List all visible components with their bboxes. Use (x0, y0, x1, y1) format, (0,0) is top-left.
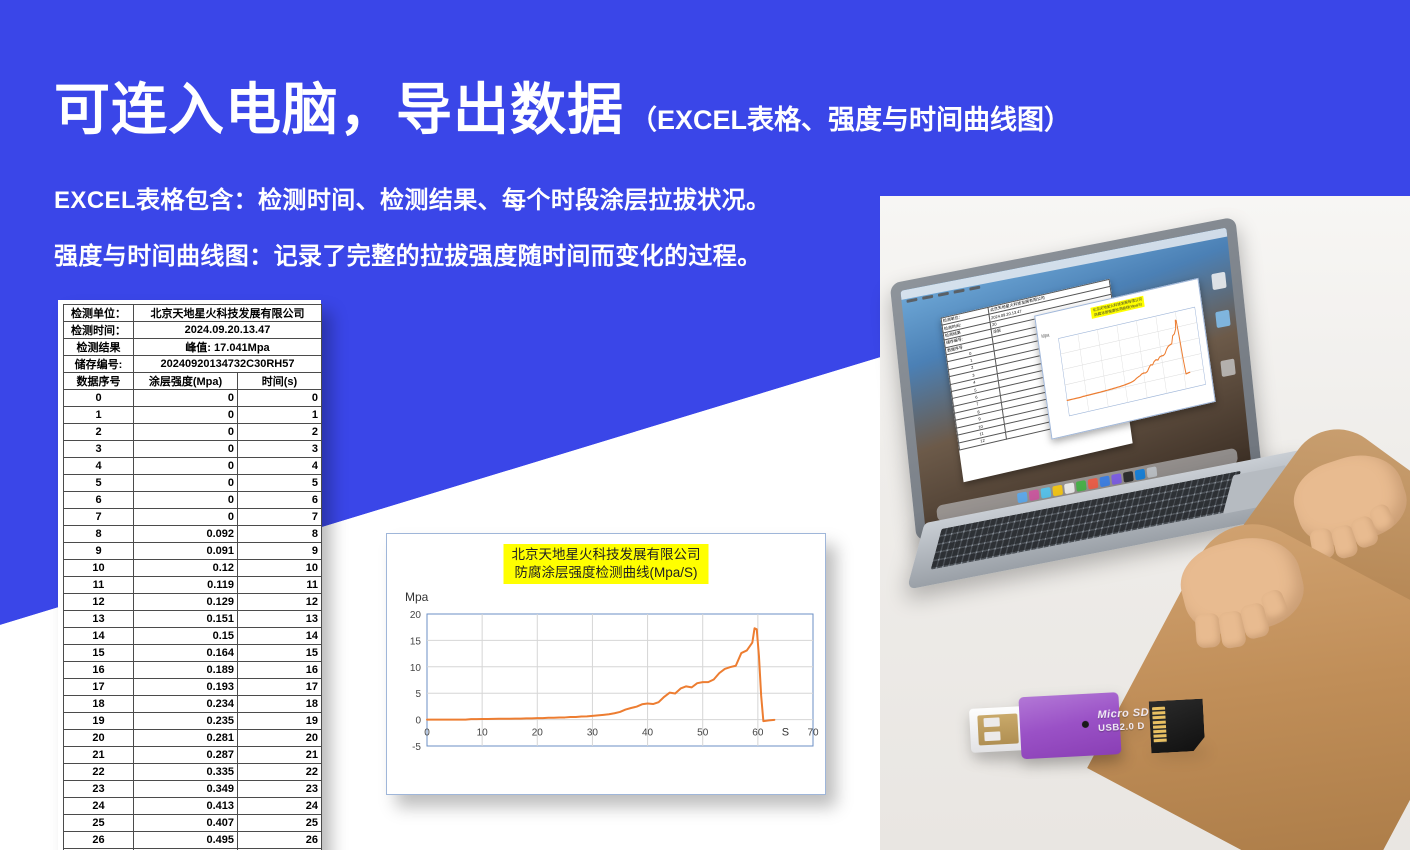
cell-index: 9 (64, 543, 134, 560)
dock-icon-pages[interactable] (1064, 482, 1075, 494)
chart-ytick-label: 20 (410, 610, 422, 621)
meta-value: 2024.09.20.13.47 (134, 322, 322, 339)
cell-time: 5 (238, 475, 322, 492)
cell-index: 1 (64, 407, 134, 424)
cell-time: 16 (238, 662, 322, 679)
cell-time: 8 (238, 526, 322, 543)
desktop-icon-file (1211, 271, 1226, 290)
table-row: 140.1514 (64, 628, 322, 645)
cell-time: 26 (238, 832, 322, 849)
cell-time: 2 (238, 424, 322, 441)
table-row: 120.12912 (64, 594, 322, 611)
table-row: 80.0928 (64, 526, 322, 543)
table-row: 180.23418 (64, 696, 322, 713)
cell-time: 7 (238, 509, 322, 526)
cell-time: 4 (238, 458, 322, 475)
chart-xtick-label: 10 (477, 728, 489, 739)
meta-value: 20240920134732C30RH57 (134, 356, 322, 373)
cell-index: 19 (64, 713, 134, 730)
chart-xtick-label: 40 (642, 728, 654, 739)
cell-strength: 0.281 (134, 730, 238, 747)
table-row: 000 (64, 390, 322, 407)
cell-strength: 0.335 (134, 764, 238, 781)
card-reader-brand-text: Micro SD (1097, 707, 1149, 722)
cell-strength: 0.092 (134, 526, 238, 543)
cell-strength: 0.119 (134, 577, 238, 594)
cell-time: 14 (238, 628, 322, 645)
cell-index: 24 (64, 798, 134, 815)
table-row: 404 (64, 458, 322, 475)
headline-block: 可连入电脑，导出数据（EXCEL表格、强度与时间曲线图） (54, 82, 1174, 138)
cell-strength: 0.407 (134, 815, 238, 832)
cell-strength: 0 (134, 492, 238, 509)
table-meta-row: 检测时间：2024.09.20.13.47 (64, 322, 322, 339)
cell-time: 15 (238, 645, 322, 662)
table-row: 210.28721 (64, 747, 322, 764)
dock-icon-store[interactable] (1135, 469, 1146, 481)
menubar-item (922, 295, 933, 300)
chart-ytick-label: 15 (410, 636, 422, 647)
cell-index: 21 (64, 747, 134, 764)
cell-strength: 0 (134, 407, 238, 424)
excel-data-rows: 00010120230340450560670780.092890.091910… (64, 390, 322, 850)
excel-meta-rows: 检测单位：北京天地星火科技发展有限公司检测时间：2024.09.20.13.47… (64, 305, 322, 390)
chart-title: 北京天地星火科技发展有限公司 防腐涂层强度检测曲线(Mpa/S) (504, 544, 709, 584)
chart-ytick-label: 10 (410, 663, 422, 674)
excel-report-card: 检测单位：北京天地星火科技发展有限公司检测时间：2024.09.20.13.47… (58, 300, 321, 850)
cell-time: 17 (238, 679, 322, 696)
cell-strength: 0.287 (134, 747, 238, 764)
table-meta-row: 检测单位：北京天地星火科技发展有限公司 (64, 305, 322, 322)
column-header: 数据序号 (64, 373, 134, 390)
page-title-parenthetical: （EXCEL表格、强度与时间曲线图） (630, 98, 1071, 137)
table-row: 160.18916 (64, 662, 322, 679)
meta-value: 峰值: 17.041Mpa (134, 339, 322, 356)
cell-index: 18 (64, 696, 134, 713)
menubar-item (954, 289, 965, 294)
cell-index: 6 (64, 492, 134, 509)
cell-time: 12 (238, 594, 322, 611)
table-row: 250.40725 (64, 815, 322, 832)
menubar-item (906, 298, 917, 303)
dock-icon-safari[interactable] (1040, 487, 1051, 499)
dock-icon-keynote[interactable] (1088, 478, 1099, 490)
cell-strength: 0.234 (134, 696, 238, 713)
cell-time: 22 (238, 764, 322, 781)
chart-xtick-label: 0 (424, 728, 430, 739)
table-row: 230.34923 (64, 781, 322, 798)
chart-title-line-1: 北京天地星火科技发展有限公司 (512, 546, 701, 564)
cell-strength: 0.349 (134, 781, 238, 798)
table-row: 707 (64, 509, 322, 526)
cell-time: 18 (238, 696, 322, 713)
cell-index: 11 (64, 577, 134, 594)
laptop-chart-y-label: Mpa (1041, 332, 1050, 339)
table-row: 101 (64, 407, 322, 424)
dock-icon-photoshop[interactable] (1123, 471, 1134, 483)
usb-card-reader: Micro SD USB2.0 D (968, 692, 1121, 762)
cell-strength: 0.091 (134, 543, 238, 560)
dock-icon-mail[interactable] (1099, 475, 1110, 487)
page-title: 可连入电脑，导出数据 (54, 82, 624, 138)
cell-index: 12 (64, 594, 134, 611)
table-row: 190.23519 (64, 713, 322, 730)
table-header-row: 数据序号涂层强度(Mpa)时间(s) (64, 373, 322, 390)
cell-time: 1 (238, 407, 322, 424)
table-meta-row: 储存编号:20240920134732C30RH57 (64, 356, 322, 373)
table-row: 202 (64, 424, 322, 441)
chart-xtick-label: 70 (807, 728, 819, 739)
cell-index: 13 (64, 611, 134, 628)
cell-index: 15 (64, 645, 134, 662)
cell-strength: 0.129 (134, 594, 238, 611)
cell-index: 3 (64, 441, 134, 458)
dock-icon-notes[interactable] (1052, 485, 1063, 497)
card-reader-body: Micro SD USB2.0 D (1018, 692, 1121, 759)
cell-time: 9 (238, 543, 322, 560)
meta-label: 检测单位： (64, 305, 134, 322)
dock-icon-settings[interactable] (1146, 466, 1157, 478)
cell-strength: 0 (134, 458, 238, 475)
chart-x-axis-unit: S (782, 727, 789, 739)
cell-time: 24 (238, 798, 322, 815)
cell-strength: 0.413 (134, 798, 238, 815)
cell-index: 2 (64, 424, 134, 441)
cell-time: 10 (238, 560, 322, 577)
cell-index: 8 (64, 526, 134, 543)
cell-strength: 0 (134, 509, 238, 526)
usb-contacts (977, 713, 1019, 745)
cell-time: 19 (238, 713, 322, 730)
cell-index: 4 (64, 458, 134, 475)
cell-index: 22 (64, 764, 134, 781)
meta-value: 北京天地星火科技发展有限公司 (134, 305, 322, 322)
cell-strength: 0 (134, 390, 238, 407)
dock-icon-finder[interactable] (1017, 491, 1028, 503)
cell-strength: 0.189 (134, 662, 238, 679)
cell-index: 14 (64, 628, 134, 645)
cell-time: 11 (238, 577, 322, 594)
dock-icon-music[interactable] (1111, 473, 1122, 485)
subtitle-line-1: EXCEL表格包含：检测时间、检测结果、每个时段涂层拉拔状况。 (54, 180, 770, 215)
cell-strength: 0 (134, 424, 238, 441)
chart-ytick-label: 0 (415, 716, 421, 727)
table-row: 130.15113 (64, 611, 322, 628)
table-meta-row: 检测结果峰值: 17.041Mpa (64, 339, 322, 356)
cell-index: 17 (64, 679, 134, 696)
chart-ytick-label: -5 (412, 742, 421, 753)
finger (1195, 613, 1221, 649)
cell-strength: 0 (134, 475, 238, 492)
dock-icon-numbers[interactable] (1076, 480, 1087, 492)
subtitle-line-2: 强度与时间曲线图：记录了完整的拉拔强度随时间而变化的过程。 (54, 236, 762, 271)
chart-xtick-label: 60 (752, 728, 764, 739)
cell-index: 26 (64, 832, 134, 849)
cell-index: 7 (64, 509, 134, 526)
meta-label: 检测结果 (64, 339, 134, 356)
cell-strength: 0.235 (134, 713, 238, 730)
column-header: 时间(s) (238, 373, 322, 390)
dock-icon-photos[interactable] (1029, 489, 1040, 501)
excel-report-table: 检测单位：北京天地星火科技发展有限公司检测时间：2024.09.20.13.47… (63, 304, 322, 850)
cell-strength: 0.15 (134, 628, 238, 645)
chart-ytick-label: 5 (415, 689, 421, 700)
column-header: 涂层强度(Mpa) (134, 373, 238, 390)
menubar-item (938, 292, 949, 297)
meta-label: 检测时间： (64, 322, 134, 339)
cell-index: 23 (64, 781, 134, 798)
chart-plot-area: -505101520010203040506070S (387, 606, 827, 786)
cell-strength: 0.495 (134, 832, 238, 849)
meta-label: 储存编号: (64, 356, 134, 373)
cell-index: 10 (64, 560, 134, 577)
chart-title-line-2: 防腐涂层强度检测曲线(Mpa/S) (512, 564, 701, 582)
table-row: 100.1210 (64, 560, 322, 577)
cell-index: 25 (64, 815, 134, 832)
cell-time: 3 (238, 441, 322, 458)
cell-time: 20 (238, 730, 322, 747)
chart-plot-frame (427, 614, 813, 746)
cell-time: 23 (238, 781, 322, 798)
chart-xtick-label: 20 (532, 728, 544, 739)
chart-xtick-label: 50 (697, 728, 709, 739)
desktop-icon-folder (1215, 309, 1230, 328)
cell-index: 16 (64, 662, 134, 679)
chart-svg: -505101520010203040506070S (387, 606, 827, 786)
table-row: 170.19317 (64, 679, 322, 696)
cell-strength: 0.164 (134, 645, 238, 662)
table-row: 303 (64, 441, 322, 458)
led-indicator-icon (1082, 721, 1089, 728)
table-row: 505 (64, 475, 322, 492)
cell-strength: 0.12 (134, 560, 238, 577)
cell-time: 6 (238, 492, 322, 509)
cell-strength: 0.151 (134, 611, 238, 628)
cell-index: 5 (64, 475, 134, 492)
table-row: 90.0919 (64, 543, 322, 560)
table-row: 240.41324 (64, 798, 322, 815)
cell-index: 20 (64, 730, 134, 747)
table-row: 220.33522 (64, 764, 322, 781)
cell-time: 21 (238, 747, 322, 764)
poster-stage: 可连入电脑，导出数据（EXCEL表格、强度与时间曲线图） EXCEL表格包含：检… (0, 0, 1410, 850)
cell-time: 13 (238, 611, 322, 628)
desktop-icon-image (1220, 359, 1235, 378)
chart-y-axis-label: Mpa (405, 590, 428, 604)
chart-xtick-label: 30 (587, 728, 599, 739)
cell-strength: 0.193 (134, 679, 238, 696)
cell-time: 25 (238, 815, 322, 832)
menubar-item (969, 286, 980, 291)
cell-strength: 0 (134, 441, 238, 458)
strength-time-chart-card: 北京天地星火科技发展有限公司 防腐涂层强度检测曲线(Mpa/S) Mpa -50… (386, 533, 826, 795)
micro-sd-card (1149, 699, 1206, 754)
table-row: 150.16415 (64, 645, 322, 662)
sd-card-pins (1152, 707, 1167, 744)
table-row: 200.28120 (64, 730, 322, 747)
table-row: 110.11911 (64, 577, 322, 594)
cell-index: 0 (64, 390, 134, 407)
table-row: 260.49526 (64, 832, 322, 849)
table-row: 606 (64, 492, 322, 509)
cell-time: 0 (238, 390, 322, 407)
